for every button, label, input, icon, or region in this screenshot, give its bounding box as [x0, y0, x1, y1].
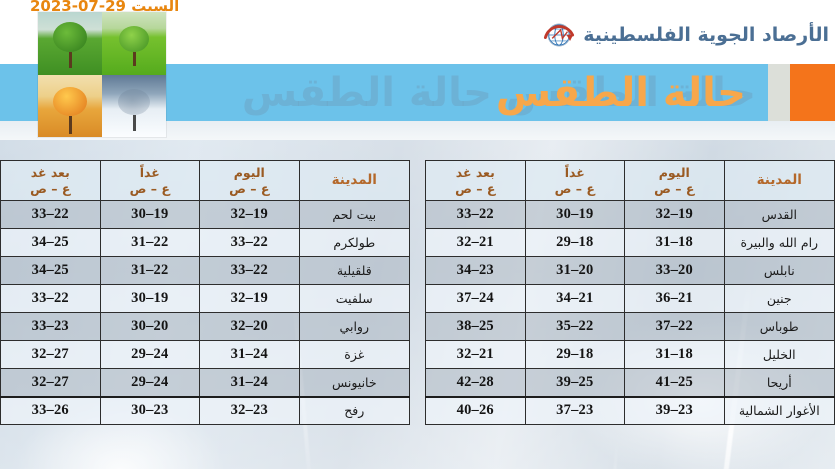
cell-today-temp: 19–32 — [625, 201, 725, 229]
column-header-tomorrow-sub: ع – ص — [526, 181, 625, 197]
table-row: طوباس22–3722–3525–38 — [426, 313, 835, 341]
cell-tomorrow-temp: 18–29 — [525, 341, 625, 369]
cell-today-temp: 20–32 — [200, 313, 300, 341]
cell-today-temp: 25–41 — [625, 369, 725, 397]
cell-today-temp: 19–32 — [200, 201, 300, 229]
cell-after-tomorrow-temp: 27–32 — [1, 369, 101, 397]
column-header-today-label: اليوم — [625, 165, 724, 181]
cell-after-tomorrow-temp: 23–33 — [1, 313, 101, 341]
column-header-today: اليوم ع – ص — [200, 161, 300, 201]
table-row: غزة24–3124–2927–32 — [1, 341, 410, 369]
cell-tomorrow-temp: 19–30 — [100, 201, 200, 229]
table-row: رفح23–3223–3026–33 — [1, 397, 410, 425]
table-row: رام الله والبيرة18–3118–2921–32 — [426, 229, 835, 257]
column-header-tomorrow-sub: ع – ص — [101, 181, 200, 197]
cell-tomorrow-temp: 25–39 — [525, 369, 625, 397]
table-head: المدينة اليوم ع – ص غداً ع – ص بعد غد ع … — [1, 161, 410, 201]
column-header-tomorrow: غداً ع – ص — [100, 161, 200, 201]
weather-forecast-page: حالة الطقس حالة الطقس حالة الطقس السبت 2… — [0, 0, 835, 469]
cell-after-tomorrow-temp: 27–32 — [1, 341, 101, 369]
cell-city: طوباس — [724, 313, 834, 341]
cell-today-temp: 21–36 — [625, 285, 725, 313]
column-header-tomorrow: غداً ع – ص — [525, 161, 625, 201]
cell-today-temp: 19–32 — [200, 285, 300, 313]
table-row: خانيونس24–3124–2927–32 — [1, 369, 410, 397]
column-header-tomorrow-label: غداً — [526, 165, 625, 181]
cell-city: نابلس — [724, 257, 834, 285]
banner-gap-block — [768, 64, 790, 121]
cell-city: رام الله والبيرة — [724, 229, 834, 257]
table-row: سلفيت19–3219–3022–33 — [1, 285, 410, 313]
cell-today-temp: 22–33 — [200, 229, 300, 257]
column-header-today-sub: ع – ص — [200, 181, 299, 197]
cell-tomorrow-temp: 23–30 — [100, 397, 200, 425]
column-header-city: المدينة — [299, 161, 409, 201]
cell-after-tomorrow-temp: 24–37 — [426, 285, 526, 313]
cell-after-tomorrow-temp: 26–40 — [426, 397, 526, 425]
season-autumn-panel — [38, 75, 102, 138]
column-header-today-label: اليوم — [200, 165, 299, 181]
cell-after-tomorrow-temp: 26–33 — [1, 397, 101, 425]
table-row: طولكرم22–3322–3125–34 — [1, 229, 410, 257]
cell-city: القدس — [724, 201, 834, 229]
forecast-table-right-slot: المدينة اليوم ع – ص غداً ع – ص بعد غد ع … — [425, 160, 835, 445]
cell-tomorrow-temp: 22–31 — [100, 257, 200, 285]
organization-title: الأرصاد الجوية الفلسطينية — [583, 24, 829, 46]
column-header-after-tomorrow-label: بعد غد — [426, 165, 525, 181]
cell-city: غزة — [299, 341, 409, 369]
table-row: روابي20–3220–3023–33 — [1, 313, 410, 341]
cell-after-tomorrow-temp: 22–33 — [1, 285, 101, 313]
four-seasons-image — [38, 12, 166, 137]
cell-tomorrow-temp: 19–30 — [100, 285, 200, 313]
table-header-row: المدينة اليوم ع – ص غداً ع – ص بعد غد ع … — [1, 161, 410, 201]
cell-tomorrow-temp: 21–34 — [525, 285, 625, 313]
table-body: بيت لحم19–3219–3022–33طولكرم22–3322–3125… — [1, 201, 410, 425]
cell-tomorrow-temp: 18–29 — [525, 229, 625, 257]
table-header-row: المدينة اليوم ع – ص غداً ع – ص بعد غد ع … — [426, 161, 835, 201]
column-header-after-tomorrow-label: بعد غد — [1, 165, 100, 181]
cell-after-tomorrow-temp: 21–32 — [426, 229, 526, 257]
table-row: الخليل18–3118–2921–32 — [426, 341, 835, 369]
forecast-table-left: المدينة اليوم ع – ص غداً ع – ص بعد غد ع … — [0, 160, 410, 425]
cell-city: قلقيلية — [299, 257, 409, 285]
cell-city: بيت لحم — [299, 201, 409, 229]
cell-city: رفح — [299, 397, 409, 425]
cell-city: روابي — [299, 313, 409, 341]
cell-tomorrow-temp: 19–30 — [525, 201, 625, 229]
tree-icon — [53, 22, 87, 68]
forecast-table-right: المدينة اليوم ع – ص غداً ع – ص بعد غد ع … — [425, 160, 835, 425]
cell-city: جنين — [724, 285, 834, 313]
cell-today-temp: 22–33 — [200, 257, 300, 285]
column-header-after-tomorrow-sub: ع – ص — [426, 181, 525, 197]
column-header-today-sub: ع – ص — [625, 181, 724, 197]
column-header-tomorrow-label: غداً — [101, 165, 200, 181]
cell-today-temp: 18–31 — [625, 229, 725, 257]
cell-city: سلفيت — [299, 285, 409, 313]
cell-today-temp: 24–31 — [200, 341, 300, 369]
cell-after-tomorrow-temp: 22–33 — [1, 201, 101, 229]
cell-today-temp: 23–39 — [625, 397, 725, 425]
cell-after-tomorrow-temp: 22–33 — [426, 201, 526, 229]
column-header-city: المدينة — [724, 161, 834, 201]
globe-arc-logo-icon — [542, 18, 576, 52]
column-header-after-tomorrow-sub: ع – ص — [1, 181, 100, 197]
cell-tomorrow-temp: 22–35 — [525, 313, 625, 341]
banner-title: حالة الطقس — [496, 70, 746, 116]
cell-after-tomorrow-temp: 25–34 — [1, 257, 101, 285]
cell-tomorrow-temp: 24–29 — [100, 369, 200, 397]
tree-icon — [119, 26, 149, 66]
organization-header: الأرصاد الجوية الفلسطينية — [542, 18, 829, 52]
table-body: القدس19–3219–3022–33رام الله والبيرة18–3… — [426, 201, 835, 425]
cell-tomorrow-temp: 20–31 — [525, 257, 625, 285]
season-summer-panel — [102, 12, 166, 75]
season-spring-panel — [38, 12, 102, 75]
cell-tomorrow-temp: 23–37 — [525, 397, 625, 425]
column-header-after-tomorrow: بعد غد ع – ص — [1, 161, 101, 201]
cell-after-tomorrow-temp: 25–38 — [426, 313, 526, 341]
cell-city: خانيونس — [299, 369, 409, 397]
cell-after-tomorrow-temp: 23–34 — [426, 257, 526, 285]
table-row: نابلس20–3320–3123–34 — [426, 257, 835, 285]
forecast-table-left-slot: المدينة اليوم ع – ص غداً ع – ص بعد غد ع … — [0, 160, 410, 445]
cell-today-temp: 20–33 — [625, 257, 725, 285]
cell-after-tomorrow-temp: 25–34 — [1, 229, 101, 257]
cell-city: أريحا — [724, 369, 834, 397]
table-row: جنين21–3621–3424–37 — [426, 285, 835, 313]
cell-after-tomorrow-temp: 28–42 — [426, 369, 526, 397]
cell-tomorrow-temp: 22–31 — [100, 229, 200, 257]
banner-orange-block — [790, 64, 835, 121]
tables-gap — [410, 160, 425, 445]
table-row: بيت لحم19–3219–3022–33 — [1, 201, 410, 229]
table-row: الأغوار الشمالية23–3923–3726–40 — [426, 397, 835, 425]
tree-icon — [53, 87, 87, 134]
cell-city: الأغوار الشمالية — [724, 397, 834, 425]
cell-today-temp: 22–37 — [625, 313, 725, 341]
cell-today-temp: 18–31 — [625, 341, 725, 369]
column-header-after-tomorrow: بعد غد ع – ص — [426, 161, 526, 201]
table-row: قلقيلية22–3322–3125–34 — [1, 257, 410, 285]
cell-tomorrow-temp: 20–30 — [100, 313, 200, 341]
cell-city: الخليل — [724, 341, 834, 369]
table-row: القدس19–3219–3022–33 — [426, 201, 835, 229]
bare-tree-icon — [118, 89, 150, 131]
column-header-today: اليوم ع – ص — [625, 161, 725, 201]
cell-after-tomorrow-temp: 21–32 — [426, 341, 526, 369]
cell-city: طولكرم — [299, 229, 409, 257]
season-winter-panel — [102, 75, 166, 138]
cell-today-temp: 23–32 — [200, 397, 300, 425]
forecast-tables: المدينة اليوم ع – ص غداً ع – ص بعد غد ع … — [0, 160, 835, 445]
cell-today-temp: 24–31 — [200, 369, 300, 397]
table-head: المدينة اليوم ع – ص غداً ع – ص بعد غد ع … — [426, 161, 835, 201]
cell-tomorrow-temp: 24–29 — [100, 341, 200, 369]
table-row: أريحا25–4125–3928–42 — [426, 369, 835, 397]
